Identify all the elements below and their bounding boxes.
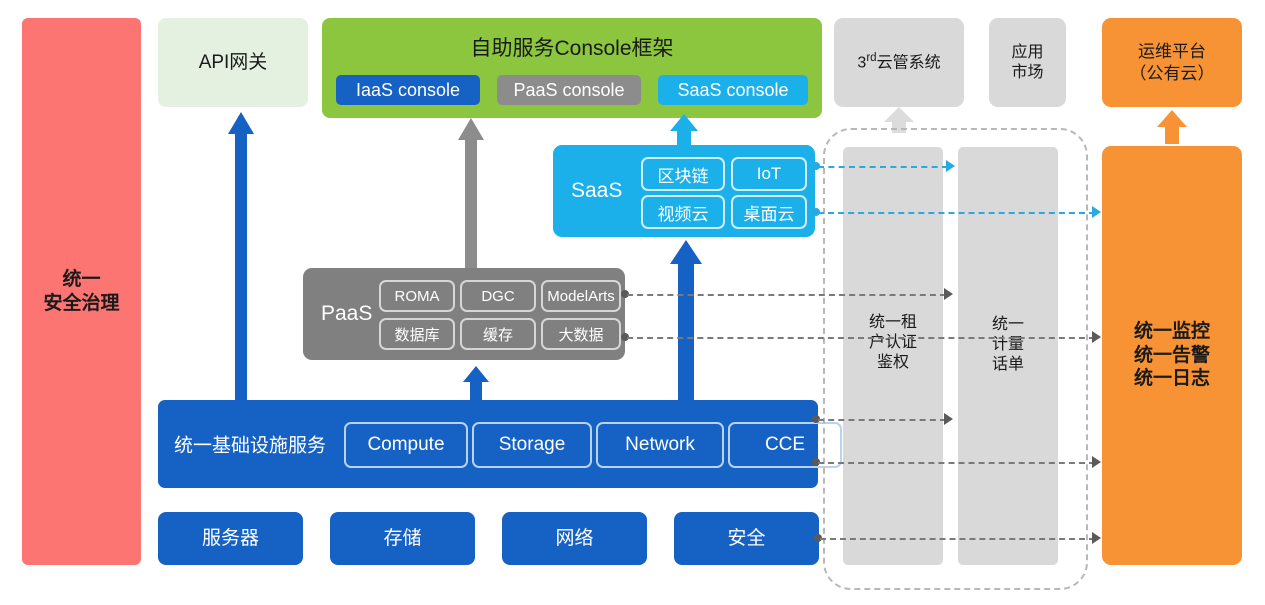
connector-arrowhead-saas-1	[946, 160, 955, 172]
paas-chip-dgc[interactable]: DGC	[460, 280, 536, 312]
saas-label: SaaS	[571, 179, 622, 203]
infra-chip-compute[interactable]: Compute	[344, 422, 468, 468]
arrow-infra-to-saas	[670, 240, 702, 410]
paas-chip-cache[interactable]: 缓存	[460, 318, 536, 350]
third-party-prefix: 3	[857, 55, 866, 72]
resource-box-security[interactable]: 安全	[674, 512, 819, 565]
saas-chip-video-cloud[interactable]: 视频云	[641, 195, 725, 229]
metering-line-1: 统一	[958, 315, 1058, 335]
connector-arrowhead-saas-2	[1092, 206, 1101, 218]
unified-ops-column: 统一监控 统一告警 统一日志	[1102, 146, 1242, 565]
auth-line-1: 统一租	[843, 313, 943, 333]
arrow-infra-to-api-gateway	[228, 112, 254, 410]
arrow-ops-column-to-ops-platform	[1157, 110, 1187, 144]
security-line-1: 统一	[43, 268, 119, 292]
app-market-box: 应用 市场	[989, 18, 1066, 107]
infra-chip-storage[interactable]: Storage	[472, 422, 592, 468]
architecture-diagram: 统一 安全治理 API网关 自助服务Console框架 IaaS console…	[0, 0, 1265, 605]
shared-service-auth-label: 统一租 户认证 鉴权	[843, 313, 943, 373]
resource-box-storage[interactable]: 存储	[330, 512, 475, 565]
paas-label: PaaS	[321, 302, 372, 326]
connector-arrowhead-paas-2	[1092, 331, 1101, 343]
connector-resources-to-ops	[820, 538, 1095, 540]
paas-chip-roma[interactable]: ROMA	[379, 280, 455, 312]
saas-chip-blockchain[interactable]: 区块链	[641, 157, 725, 191]
saas-chip-iot[interactable]: IoT	[731, 157, 807, 191]
ops-column-line-2: 统一告警	[1134, 344, 1210, 368]
connector-saas-to-auth	[818, 166, 948, 168]
connector-paas-to-ops	[627, 337, 1095, 339]
api-gateway-label: API网关	[199, 51, 268, 75]
ops-platform-line-2: （公有云）	[1130, 63, 1215, 84]
resource-box-network[interactable]: 网络	[502, 512, 647, 565]
app-market-line-1: 应用	[1011, 43, 1043, 63]
app-market-line-2: 市场	[1011, 63, 1043, 83]
connector-paas-to-auth	[627, 294, 946, 296]
shared-service-column-metering: 统一 计量 话单	[958, 147, 1058, 565]
iaas-console-chip[interactable]: IaaS console	[336, 75, 480, 105]
unified-security-governance-column: 统一 安全治理	[22, 18, 141, 565]
ops-column-line-3: 统一日志	[1134, 367, 1210, 391]
paas-console-chip[interactable]: PaaS console	[497, 75, 641, 105]
third-party-superscript: rd	[866, 52, 876, 64]
saas-chip-desktop-cloud[interactable]: 桌面云	[731, 195, 807, 229]
metering-line-3: 话单	[958, 355, 1058, 375]
paas-chip-modelarts[interactable]: ModelArts	[541, 280, 621, 312]
saas-panel: SaaS 区块链 IoT 视频云 桌面云	[553, 145, 815, 237]
auth-line-3: 鉴权	[843, 353, 943, 373]
self-service-console-frame: 自助服务Console框架 IaaS console PaaS console …	[322, 18, 822, 118]
paas-chip-bigdata[interactable]: 大数据	[541, 318, 621, 350]
connector-infra-to-auth	[818, 419, 946, 421]
ops-platform-line-1: 运维平台	[1130, 41, 1215, 62]
connector-infra-to-ops	[818, 462, 1095, 464]
unified-infrastructure-bar: 统一基础设施服务 Compute Storage Network CCE	[158, 400, 818, 488]
console-frame-title: 自助服务Console框架	[322, 32, 822, 62]
third-party-cloud-mgmt-box: 3rd云管系统	[834, 18, 964, 107]
ops-column-line-1: 统一监控	[1134, 320, 1210, 344]
arrow-paas-to-console	[458, 118, 484, 270]
security-line-2: 安全治理	[43, 292, 119, 316]
third-party-cloud-mgmt-label: 3rd云管系统	[857, 51, 940, 73]
shared-service-metering-label: 统一 计量 话单	[958, 315, 1058, 375]
api-gateway-box: API网关	[158, 18, 308, 107]
paas-chip-database[interactable]: 数据库	[379, 318, 455, 350]
connector-arrowhead-infra-1	[944, 413, 953, 425]
auth-line-2: 户认证	[843, 333, 943, 353]
third-party-rest: 云管系统	[877, 55, 941, 72]
saas-console-chip[interactable]: SaaS console	[658, 75, 808, 105]
connector-arrowhead-paas-1	[944, 288, 953, 300]
infra-chip-network[interactable]: Network	[596, 422, 724, 468]
infrastructure-label: 统一基础设施服务	[174, 431, 326, 458]
paas-panel: PaaS ROMA DGC ModelArts 数据库 缓存 大数据	[303, 268, 625, 360]
shared-service-column-auth: 统一租 户认证 鉴权	[843, 147, 943, 565]
connector-arrowhead-infra-2	[1092, 456, 1101, 468]
ops-platform-box: 运维平台 （公有云）	[1102, 18, 1242, 107]
resource-box-server[interactable]: 服务器	[158, 512, 303, 565]
connector-arrowhead-resources	[1092, 532, 1101, 544]
connector-saas-to-ops	[818, 212, 1095, 214]
